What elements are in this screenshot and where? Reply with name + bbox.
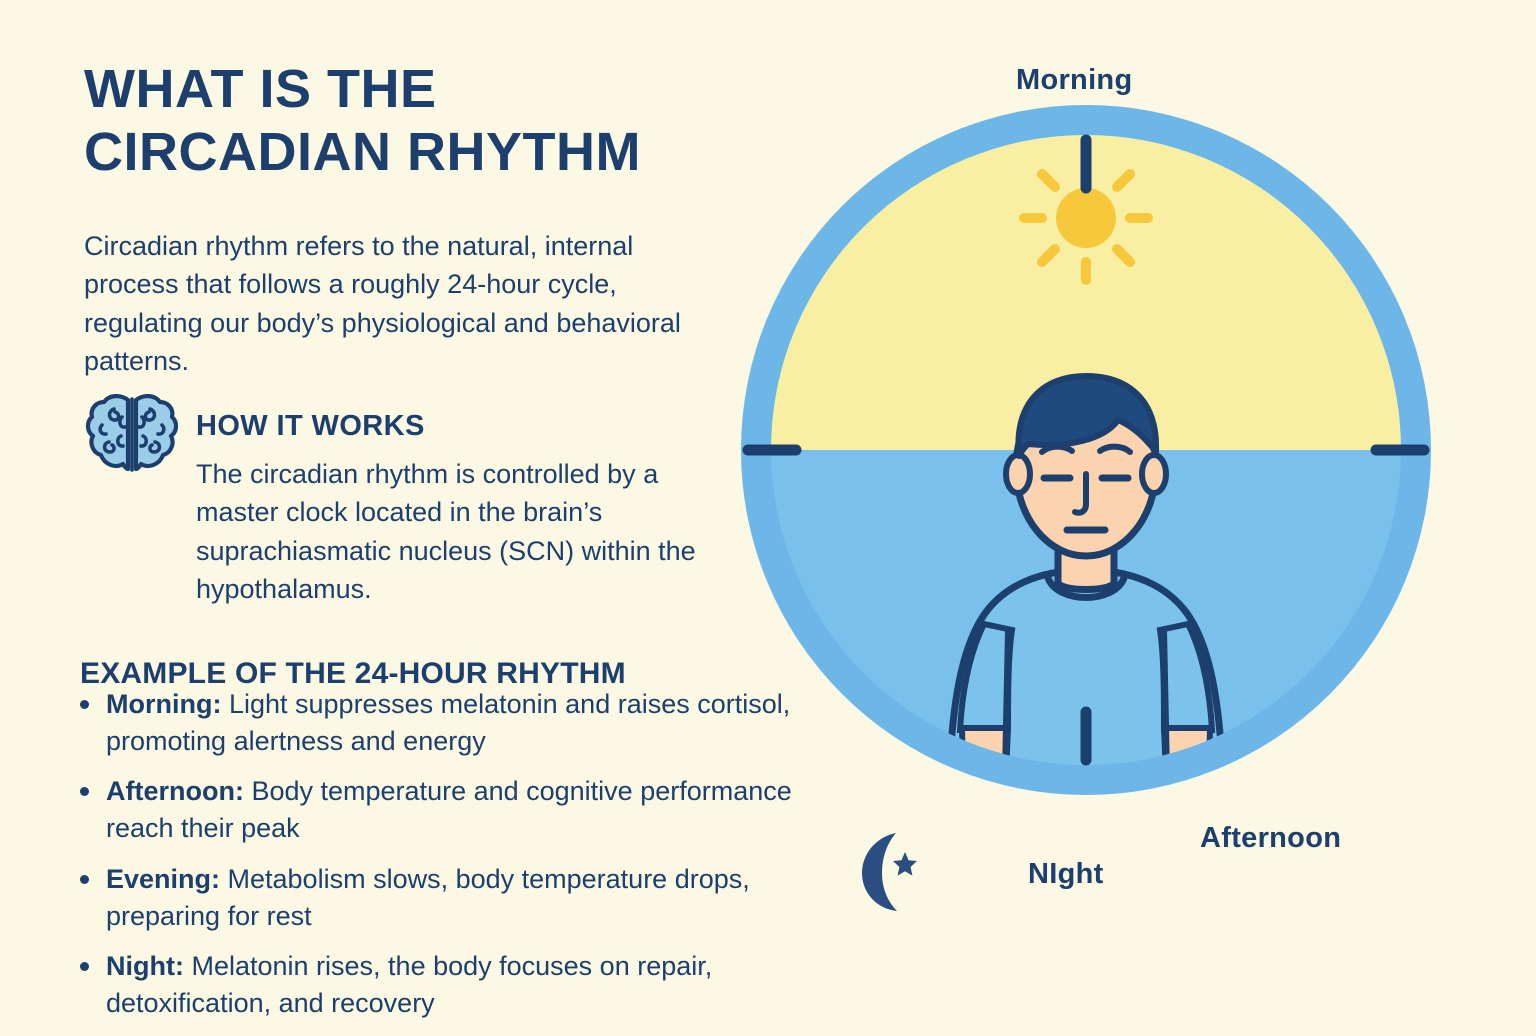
- bullet-dot: [80, 962, 89, 971]
- rhythm-list: Morning: Light suppresses melatonin and …: [74, 686, 794, 1036]
- diagram-label-night: NIght: [1028, 858, 1104, 891]
- clock-face: [736, 100, 1436, 800]
- infographic-page: WHAT IS THE CIRCADIAN RHYTHM Circadian r…: [0, 0, 1536, 1024]
- bullet-dot: [80, 875, 89, 884]
- left-content-column: WHAT IS THE CIRCADIAN RHYTHM Circadian r…: [0, 0, 800, 1024]
- list-item-text: Melatonin rises, the body focuses on rep…: [106, 951, 712, 1018]
- list-item-term: Evening:: [106, 864, 220, 894]
- list-item: Morning: Light suppresses melatonin and …: [74, 686, 794, 759]
- circadian-clock-diagram: Morning Afternoon NIght: [736, 0, 1536, 1024]
- bullet-dot: [80, 787, 89, 796]
- list-item: Evening: Metabolism slows, body temperat…: [74, 861, 794, 934]
- bullet-dot: [80, 700, 89, 709]
- list-item: Night: Melatonin rises, the body focuses…: [74, 948, 794, 1021]
- intro-paragraph: Circadian rhythm refers to the natural, …: [84, 227, 684, 380]
- list-item-term: Morning:: [106, 689, 221, 719]
- list-item: Afternoon: Body temperature and cognitiv…: [74, 773, 794, 846]
- how-it-works-body: The circadian rhythm is controlled by a …: [196, 455, 706, 608]
- list-item-term: Night:: [106, 951, 184, 981]
- how-it-works-heading: HOW IT WORKS: [196, 410, 425, 443]
- page-title-line-2: CIRCADIAN RHYTHM: [84, 121, 744, 184]
- page-title-line-1: WHAT IS THE: [84, 58, 744, 121]
- diagram-label-afternoon: Afternoon: [1200, 822, 1341, 855]
- brain-icon: [84, 390, 180, 476]
- diagram-label-morning: Morning: [1016, 64, 1132, 97]
- list-item-term: Afternoon:: [106, 776, 244, 806]
- moon-star-icon: [850, 828, 926, 914]
- page-title: WHAT IS THE CIRCADIAN RHYTHM: [84, 58, 744, 183]
